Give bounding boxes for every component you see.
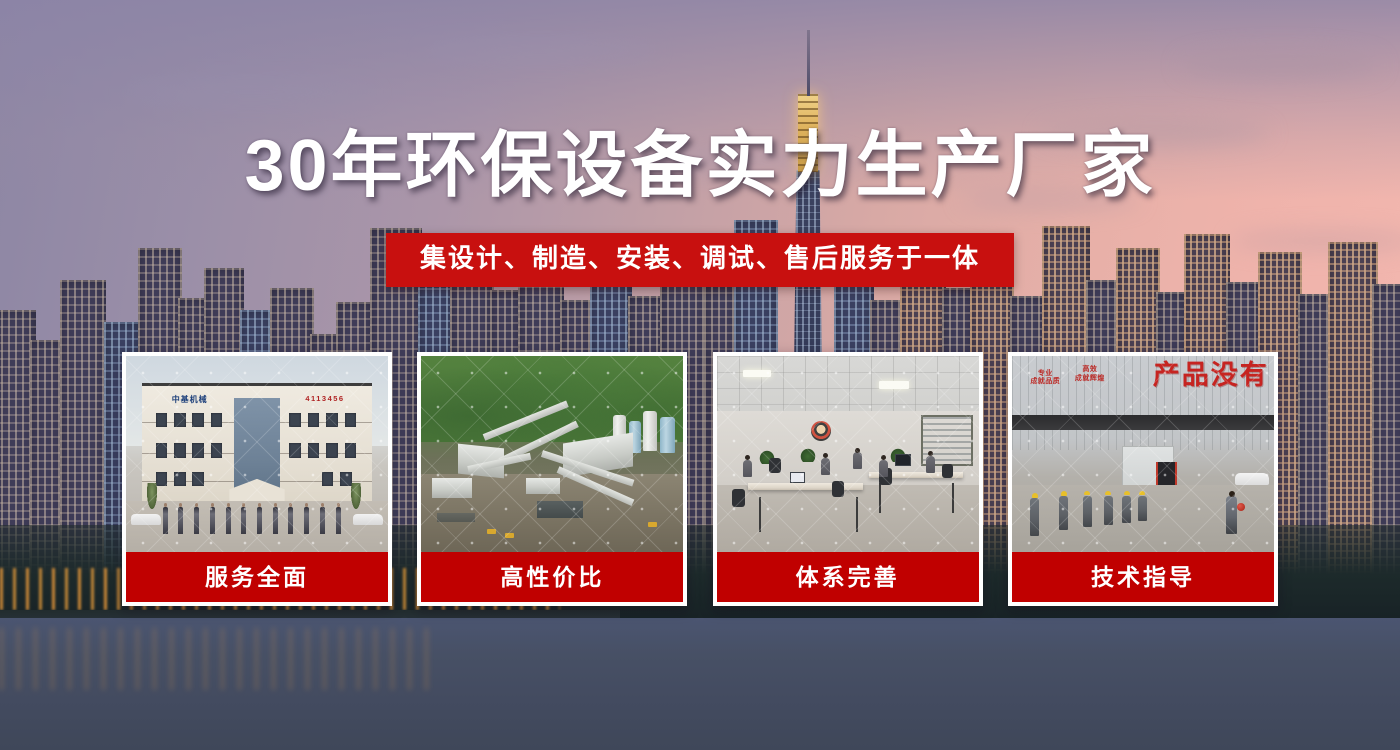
factory-wall-text: 产品没有 <box>1153 362 1269 389</box>
card-caption-value: 高性价比 <box>421 552 683 602</box>
feature-card-service[interactable]: 中基机械 4113456 <box>122 352 392 606</box>
photo-office-interior <box>717 356 979 552</box>
photo-workers-factory: 产品没有 专业成就品质 高效成就辉煌 <box>1012 356 1274 552</box>
photo-plant-aerial <box>421 356 683 552</box>
promo-banner: 30年环保设备实力生产厂家 集设计、制造、安装、调试、售后服务于一体 <box>0 0 1400 750</box>
building-phone-label: 4113456 <box>305 394 344 403</box>
feature-card-row: 中基机械 4113456 <box>122 352 1278 606</box>
feature-card-guidance[interactable]: 产品没有 专业成就品质 高效成就辉煌 技术指导 <box>1008 352 1278 606</box>
card-caption-guidance: 技术指导 <box>1012 552 1274 602</box>
feature-card-system[interactable]: 体系完善 <box>713 352 983 606</box>
card-caption-service: 服务全面 <box>126 552 388 602</box>
page-title: 30年环保设备实力生产厂家 <box>0 130 1400 202</box>
wall-decal-icon <box>811 421 831 441</box>
feature-card-value[interactable]: 高性价比 <box>417 352 687 606</box>
subtitle-text: 集设计、制造、安装、调试、售后服务于一体 <box>420 244 980 274</box>
building-signage-label: 中基机械 <box>172 394 208 405</box>
card-caption-system: 体系完善 <box>717 552 979 602</box>
water-reflection <box>0 628 430 690</box>
photo-office-building: 中基机械 4113456 <box>126 356 388 552</box>
subtitle-ribbon: 集设计、制造、安装、调试、售后服务于一体 <box>386 233 1014 287</box>
